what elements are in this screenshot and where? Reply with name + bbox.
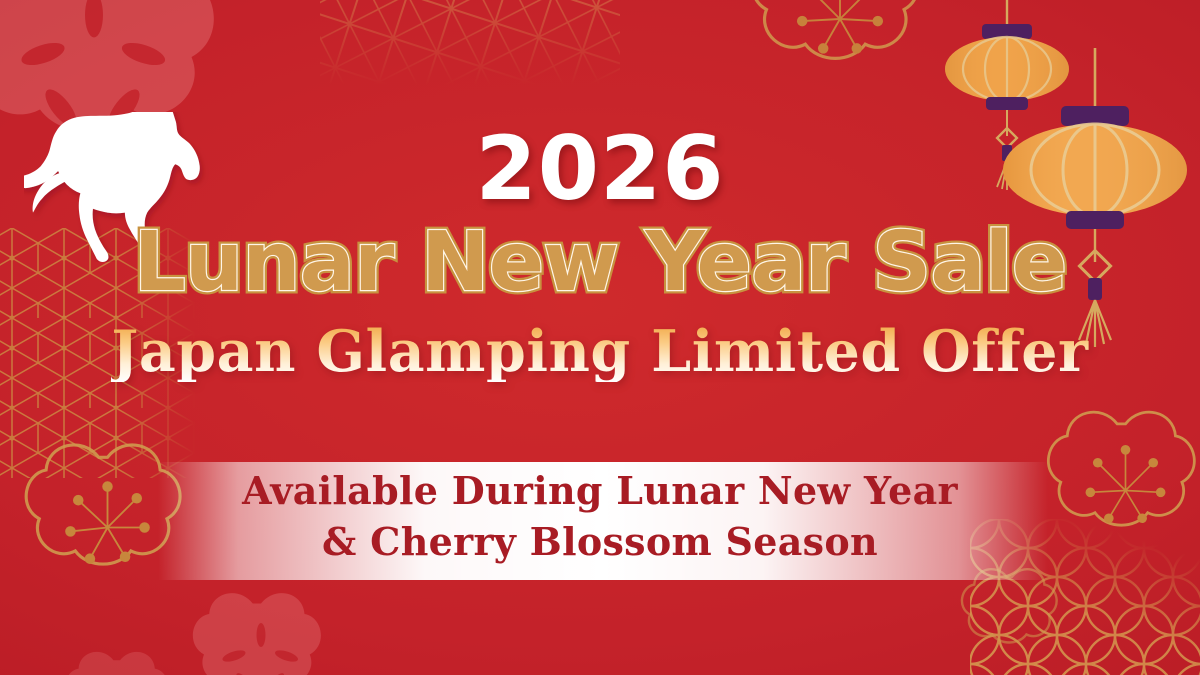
headline-wrapper: Lunar New Year Sale Lunar New Year Sale xyxy=(134,212,1067,308)
ribbon-line-1: Available During Lunar New Year xyxy=(242,468,958,513)
ribbon-line-2: & Cherry Blossom Season xyxy=(0,517,1200,568)
banner-content: 2026 Lunar New Year Sale Lunar New Year … xyxy=(0,0,1200,675)
year-label: 2026 xyxy=(476,126,725,212)
subheadline: Japan Glamping Limited Offer xyxy=(111,322,1088,382)
page-title: Lunar New Year Sale xyxy=(134,220,1067,305)
ribbon-text: Available During Lunar New Year & Cherry… xyxy=(0,466,1200,567)
lunar-new-year-sale-banner: 2026 Lunar New Year Sale Lunar New Year … xyxy=(0,0,1200,675)
